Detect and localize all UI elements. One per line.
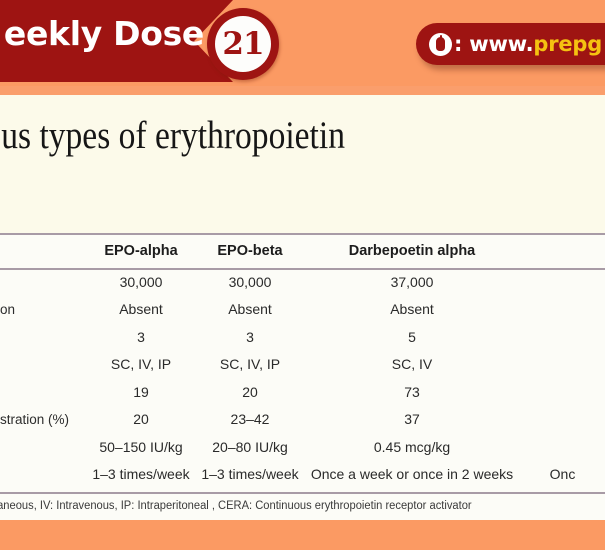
cell-darbepoetin: 0.45 mcg/kg: [304, 433, 520, 461]
cell-epo-beta: 23–42: [196, 406, 304, 434]
column-header-cera: [520, 233, 605, 268]
cell-epo-alpha: 1–3 times/week: [86, 461, 196, 489]
cell-cera: Onc: [520, 461, 605, 489]
cell-cera: [520, 268, 605, 296]
table-row: SC, IV, IP SC, IV, IP SC, IV: [0, 351, 605, 379]
url-prefix: : www.: [454, 32, 533, 56]
cell-epo-alpha: SC, IV, IP: [86, 351, 196, 379]
slide-page: eekly Dose 21 : www. prepg of various ty…: [0, 0, 605, 550]
row-label: [0, 461, 86, 489]
comparison-table: EPO-alpha EPO-beta Darbepoetin alpha 30,…: [0, 233, 605, 488]
row-label: on: [0, 296, 86, 324]
column-header-epo-alpha: EPO-alpha: [86, 233, 196, 268]
cell-cera: [520, 378, 605, 406]
cell-epo-alpha: 50–150 IU/kg: [86, 433, 196, 461]
cell-darbepoetin: 37,000: [304, 268, 520, 296]
cell-cera: [520, 296, 605, 324]
footer-band: [0, 520, 605, 550]
table-footnote: taneous, IV: Intravenous, IP: Intraperit…: [0, 496, 605, 520]
table-row: 3 3 5: [0, 323, 605, 351]
cell-darbepoetin: 73: [304, 378, 520, 406]
cell-epo-beta: 20: [196, 378, 304, 406]
footnote-text: taneous, IV: Intravenous, IP: Intraperit…: [0, 500, 595, 512]
column-header-darbepoetin-alpha: Darbepoetin alpha: [304, 233, 520, 268]
row-label: [0, 433, 86, 461]
cell-epo-beta: 3: [196, 323, 304, 351]
comparison-table-panel: EPO-alpha EPO-beta Darbepoetin alpha 30,…: [0, 233, 605, 518]
row-label: stration (%): [0, 406, 86, 434]
cell-darbepoetin: Once a week or once in 2 weeks: [304, 461, 520, 489]
website-pill[interactable]: : www. prepg: [416, 23, 605, 65]
cell-cera: [520, 433, 605, 461]
table-row: on Absent Absent Absent: [0, 296, 605, 324]
title-area: of various types of erythropoietin: [0, 95, 605, 233]
row-label: [0, 323, 86, 351]
cell-epo-beta: Absent: [196, 296, 304, 324]
cell-epo-alpha: 30,000: [86, 268, 196, 296]
cell-epo-alpha: 20: [86, 406, 196, 434]
weekly-dose-label: eekly Dose: [0, 13, 204, 55]
column-header-label: [0, 233, 86, 268]
row-label: [0, 378, 86, 406]
cell-darbepoetin: 37: [304, 406, 520, 434]
row-label: [0, 268, 86, 296]
column-header-epo-beta: EPO-beta: [196, 233, 304, 268]
table-row: 1–3 times/week 1–3 times/week Once a wee…: [0, 461, 605, 489]
episode-number: 21: [222, 29, 263, 60]
cell-darbepoetin: 5: [304, 323, 520, 351]
page-title: of various types of erythropoietin: [0, 111, 498, 161]
cell-epo-alpha: Absent: [86, 296, 196, 324]
cell-epo-beta: 30,000: [196, 268, 304, 296]
mouse-icon: [429, 33, 452, 56]
cell-cera: [520, 406, 605, 434]
cell-cera: [520, 323, 605, 351]
cell-darbepoetin: SC, IV: [304, 351, 520, 379]
cell-epo-alpha: 19: [86, 378, 196, 406]
table-row: 50–150 IU/kg 20–80 IU/kg 0.45 mcg/kg: [0, 433, 605, 461]
row-label: [0, 351, 86, 379]
table-body: 30,000 30,000 37,000 on Absent Absent Ab…: [0, 268, 605, 488]
table-row: stration (%) 20 23–42 37: [0, 406, 605, 434]
table-row: 30,000 30,000 37,000: [0, 268, 605, 296]
cell-epo-beta: 20–80 IU/kg: [196, 433, 304, 461]
cell-darbepoetin: Absent: [304, 296, 520, 324]
table-bottom-rule: [0, 492, 605, 494]
table-header-row: EPO-alpha EPO-beta Darbepoetin alpha: [0, 233, 605, 268]
cell-epo-alpha: 3: [86, 323, 196, 351]
episode-badge-inner: 21: [215, 16, 271, 72]
cell-epo-beta: 1–3 times/week: [196, 461, 304, 489]
table-row: 19 20 73: [0, 378, 605, 406]
url-brand: prepg: [533, 32, 602, 56]
header-band-shade: [0, 86, 605, 95]
cell-epo-beta: SC, IV, IP: [196, 351, 304, 379]
episode-badge: 21: [207, 8, 279, 80]
cell-cera: [520, 351, 605, 379]
